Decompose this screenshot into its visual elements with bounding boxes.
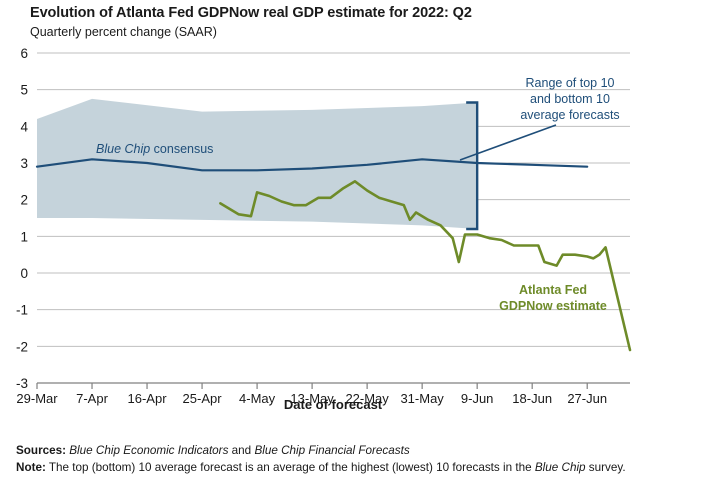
x-axis-tick-label: 31-May — [400, 391, 444, 406]
x-axis-tick-label: 16-Apr — [128, 391, 168, 406]
footer-notes: Sources: Blue Chip Economic Indicators a… — [16, 442, 626, 476]
gdpnow-annotation-line2: GDPNow estimate — [499, 299, 607, 313]
range-annotation-line2: and bottom 10 — [530, 92, 610, 106]
note-text-1: The top (bottom) 10 average forecast is … — [46, 461, 535, 474]
sources-italic-2: Blue Chip Financial Forecasts — [254, 444, 409, 457]
y-axis-tick-label: 5 — [20, 83, 28, 98]
blue-chip-consensus-annotation: Blue Chip consensus — [96, 142, 213, 156]
y-axis-tick-label: 2 — [20, 193, 28, 208]
note-italic: Blue Chip — [535, 461, 586, 474]
x-axis-title: Date of forecast — [284, 397, 383, 412]
note-label: Note: — [16, 461, 46, 474]
blue-chip-rest: consensus — [150, 142, 213, 156]
x-axis-tick-label: 27-Jun — [567, 391, 607, 406]
note-line: Note: The top (bottom) 10 average foreca… — [16, 459, 626, 476]
range-annotation-line1: Range of top 10 — [526, 76, 615, 90]
y-axis-tick-label: -1 — [16, 303, 28, 318]
x-axis-tick-label: 4-May — [239, 391, 276, 406]
forecast-range-band — [37, 99, 477, 229]
y-axis-tick-label: -3 — [16, 376, 28, 391]
y-axis-tick-label: -2 — [16, 339, 28, 354]
x-axis-tick-label: 7-Apr — [76, 391, 108, 406]
chart-page: Evolution of Atlanta Fed GDPNow real GDP… — [0, 0, 702, 483]
y-axis-tick-label: 4 — [20, 119, 28, 134]
gdpnow-line-chart: 6543210-1-2-3 29-Mar7-Apr16-Apr25-Apr4-M… — [0, 0, 702, 440]
sources-italic-1: Blue Chip Economic Indicators — [69, 444, 228, 457]
gdpnow-annotation-line1: Atlanta Fed — [519, 283, 587, 297]
forecast-range-area — [37, 99, 477, 229]
sources-line: Sources: Blue Chip Economic Indicators a… — [16, 442, 626, 459]
y-axis-tick-label: 3 — [20, 156, 28, 171]
y-axis-tick-label: 6 — [20, 46, 28, 61]
range-annotation: Range of top 10 and bottom 10 average fo… — [460, 76, 620, 160]
sources-and: and — [228, 444, 254, 457]
blue-chip-italic: Blue Chip — [96, 142, 150, 156]
y-axis-tick-label: 0 — [20, 266, 28, 281]
y-axis-ticks: 6543210-1-2-3 — [16, 46, 29, 391]
x-axis-tick-label: 25-Apr — [183, 391, 223, 406]
sources-label: Sources: — [16, 444, 66, 457]
range-annotation-line3: average forecasts — [520, 108, 619, 122]
x-axis-tick-label: 18-Jun — [512, 391, 552, 406]
note-text-2: survey. — [586, 461, 626, 474]
x-axis-tick-label: 29-Mar — [16, 391, 58, 406]
gdpnow-annotation: Atlanta Fed GDPNow estimate — [499, 283, 607, 313]
y-axis-tick-label: 1 — [20, 229, 28, 244]
x-axis-tick-label: 9-Jun — [461, 391, 494, 406]
